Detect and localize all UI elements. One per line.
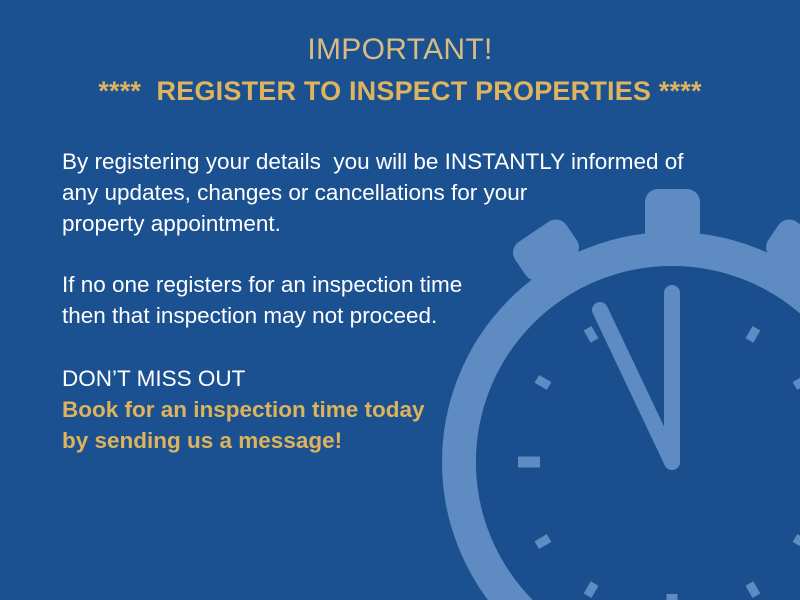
paragraph-intro-line-1: By registering your details you will be … — [62, 146, 684, 177]
paragraph-call-to-action: DON’T MISS OUT Book for an inspection ti… — [62, 363, 425, 456]
slide-content: IMPORTANT! **** REGISTER TO INSPECT PROP… — [0, 0, 800, 600]
page-title-important: IMPORTANT! — [0, 30, 800, 70]
page-title-register: **** REGISTER TO INSPECT PROPERTIES **** — [0, 70, 800, 112]
paragraph-intro-line-3: property appointment. — [62, 208, 684, 239]
paragraph-warning: If no one registers for an inspection ti… — [62, 269, 462, 331]
paragraph-warning-line-1: If no one registers for an inspection ti… — [62, 269, 462, 300]
paragraph-warning-line-2: then that inspection may not proceed. — [62, 300, 462, 331]
cta-line-send-message: by sending us a message! — [62, 425, 425, 456]
cta-line-dont-miss-out: DON’T MISS OUT — [62, 363, 425, 394]
cta-line-book-inspection: Book for an inspection time today — [62, 394, 425, 425]
slide-canvas: IMPORTANT! **** REGISTER TO INSPECT PROP… — [0, 0, 800, 600]
paragraph-intro-line-2: any updates, changes or cancellations fo… — [62, 177, 684, 208]
heading-group: IMPORTANT! **** REGISTER TO INSPECT PROP… — [0, 30, 800, 112]
paragraph-intro: By registering your details you will be … — [62, 146, 684, 239]
